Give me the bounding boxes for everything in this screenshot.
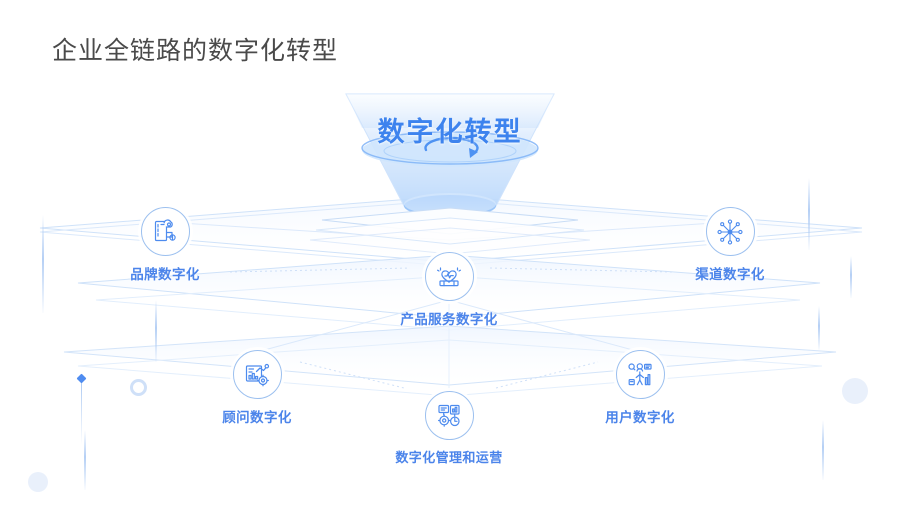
decorative-vline-7 [84, 430, 86, 490]
decorative-filled-circle-1 [842, 378, 868, 404]
decorative-vline-5 [818, 306, 820, 350]
decorative-vline-4 [850, 256, 852, 298]
heart-pulse-service-icon [436, 264, 462, 290]
network-hub-icon [717, 219, 743, 245]
decorative-vline-1 [42, 215, 44, 313]
center-funnel-graphic: 数字化转型 [300, 88, 600, 248]
node-user[interactable]: 用户数字化 [560, 350, 720, 426]
decorative-pin-stem [81, 383, 82, 445]
node-channel-circle[interactable] [706, 207, 755, 256]
node-user-label: 用户数字化 [560, 406, 720, 426]
node-management-label: 数字化管理和运营 [369, 447, 529, 466]
decorative-vline-6 [822, 420, 824, 480]
page-title: 企业全链路的数字化转型 [52, 34, 338, 68]
brand-document-cloud-icon [152, 219, 178, 245]
node-channel-label: 渠道数字化 [650, 263, 810, 283]
node-consultant-circle[interactable] [233, 350, 282, 399]
node-channel[interactable]: 渠道数字化 [650, 207, 810, 283]
gear-network-management-icon [436, 403, 462, 429]
node-brand[interactable]: 品牌数字化 [85, 207, 245, 283]
node-product-service[interactable]: 产品服务数字化 [369, 252, 529, 328]
decorative-diamond-marker [77, 374, 87, 384]
decorative-vline-2 [155, 300, 157, 362]
node-product-service-label: 产品服务数字化 [369, 308, 529, 328]
node-brand-label: 品牌数字化 [85, 263, 245, 283]
node-user-circle[interactable] [616, 350, 665, 399]
decorative-filled-circle-2 [28, 472, 48, 492]
slide-canvas: 企业全链路的数字化转型 [0, 0, 900, 506]
node-product-service-circle[interactable] [425, 252, 474, 301]
node-management[interactable]: 数字化管理和运营 [369, 391, 529, 466]
node-brand-circle[interactable] [141, 207, 190, 256]
decorative-ring-circle-1 [130, 379, 147, 396]
node-consultant-label: 顾问数字化 [177, 406, 337, 426]
analytics-chart-gear-icon [244, 362, 270, 388]
user-profile-chart-icon [627, 362, 653, 388]
node-management-circle[interactable] [425, 391, 474, 440]
center-label: 数字化转型 [300, 110, 600, 149]
node-consultant[interactable]: 顾问数字化 [177, 350, 337, 426]
